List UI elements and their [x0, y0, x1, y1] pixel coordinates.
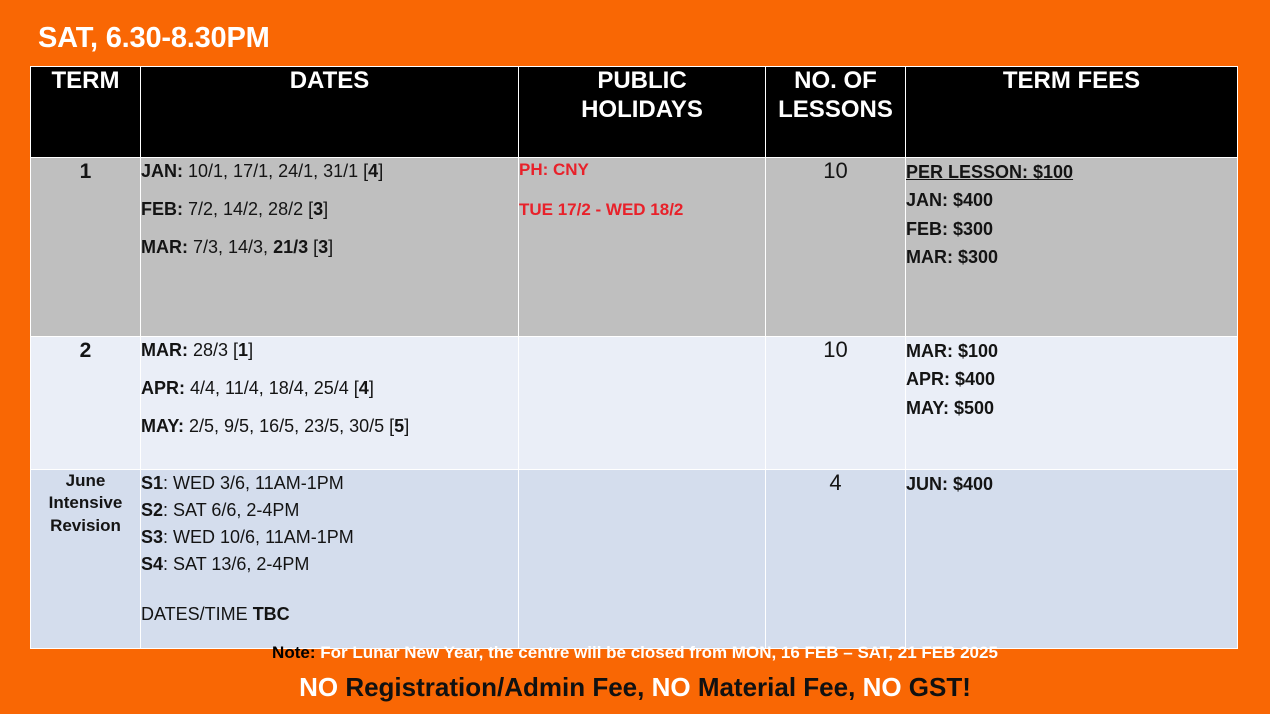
table-body: 1 JAN: 10/1, 17/1, 24/1, 31/1 [4] FEB: 7… — [31, 158, 1238, 649]
fee-line: APR: $400 — [906, 365, 1237, 393]
date-line: MAR: 7/3, 14/3, 21/3 [3] — [141, 234, 518, 260]
promo-no-3: NO — [863, 672, 902, 702]
cell-term-fees: MAR: $100 APR: $400 MAY: $500 — [906, 337, 1238, 470]
cell-term: 1 — [31, 158, 141, 337]
date-line: FEB: 7/2, 14/2, 28/2 [3] — [141, 196, 518, 222]
footer-note: Note: For Lunar New Year, the centre wil… — [0, 643, 1270, 663]
fee-line: JUN: $400 — [906, 470, 1237, 498]
table-header: TERM DATES PUBLIC HOLIDAYS NO. OF LESSON… — [31, 67, 1238, 158]
date-bracket-open: [ — [308, 237, 318, 257]
session-value: : SAT 6/6, 2-4PM — [163, 500, 299, 520]
footer-note-text: For Lunar New Year, the centre will be c… — [316, 643, 998, 662]
column-header-term: TERM — [31, 67, 141, 158]
date-count: 3 — [313, 199, 323, 219]
table-row: 1 JAN: 10/1, 17/1, 24/1, 31/1 [4] FEB: 7… — [31, 158, 1238, 337]
page-title: SAT, 6.30-8.30PM — [38, 22, 270, 55]
date-line: JAN: 10/1, 17/1, 24/1, 31/1 [4] — [141, 158, 518, 184]
promo-part-2: Material Fee, — [691, 672, 863, 702]
public-holiday-line: TUE 17/2 - WED 18/2 — [519, 198, 765, 222]
date-bracket-close: ] — [378, 161, 383, 181]
column-header-dates: DATES — [141, 67, 519, 158]
session-value: : WED 3/6, 11AM-1PM — [163, 473, 344, 493]
date-count: 5 — [394, 416, 404, 436]
session-label: S2 — [141, 500, 163, 520]
cell-no-of-lessons: 10 — [766, 158, 906, 337]
cell-no-of-lessons: 10 — [766, 337, 906, 470]
class-schedule-table: TERM DATES PUBLIC HOLIDAYS NO. OF LESSON… — [30, 66, 1238, 649]
fee-line: JAN: $400 — [906, 186, 1237, 214]
fee-line: MAR: $100 — [906, 337, 1237, 365]
date-line: APR: 4/4, 11/4, 18/4, 25/4 [4] — [141, 375, 518, 401]
date-values: 7/2, 14/2, 28/2 [ — [183, 199, 313, 219]
date-line: S1: WED 3/6, 11AM-1PM — [141, 470, 518, 496]
column-header-term-fees: TERM FEES — [906, 67, 1238, 158]
column-header-no-of-lessons-line2: LESSONS — [766, 96, 905, 125]
column-header-public-holidays-line1: PUBLIC — [519, 67, 765, 96]
date-line: MAR: 28/3 [1] — [141, 337, 518, 363]
session-label: S1 — [141, 473, 163, 493]
cell-public-holidays — [519, 470, 766, 649]
date-values: 2/5, 9/5, 16/5, 23/5, 30/5 [ — [184, 416, 394, 436]
date-month-label: MAY: — [141, 416, 184, 436]
schedule-poster: SAT, 6.30-8.30PM TERM DATES PUBLIC HOLID… — [0, 0, 1270, 714]
footer-promo: NO Registration/Admin Fee, NO Material F… — [0, 672, 1270, 703]
table-header-row: TERM DATES PUBLIC HOLIDAYS NO. OF LESSON… — [31, 67, 1238, 158]
column-header-public-holidays: PUBLIC HOLIDAYS — [519, 67, 766, 158]
fee-line: PER LESSON: $100 — [906, 158, 1237, 186]
cell-dates: MAR: 28/3 [1] APR: 4/4, 11/4, 18/4, 25/4… — [141, 337, 519, 470]
date-values: 10/1, 17/1, 24/1, 31/1 [ — [183, 161, 368, 181]
fee-line: FEB: $300 — [906, 215, 1237, 243]
promo-no-2: NO — [652, 672, 691, 702]
date-bracket-close: ] — [248, 340, 253, 360]
cell-term: June Intensive Revision — [31, 470, 141, 649]
public-holiday-line: PH: CNY — [519, 158, 765, 182]
date-line: S4: SAT 13/6, 2-4PM — [141, 551, 518, 577]
cell-dates: S1: WED 3/6, 11AM-1PM S2: SAT 6/6, 2-4PM… — [141, 470, 519, 649]
date-count: 4 — [368, 161, 378, 181]
cell-term-fees: JUN: $400 — [906, 470, 1238, 649]
date-count: 3 — [318, 237, 328, 257]
date-line: S2: SAT 6/6, 2-4PM — [141, 497, 518, 523]
date-count: 4 — [359, 378, 369, 398]
column-header-public-holidays-line2: HOLIDAYS — [519, 96, 765, 125]
dates-tbc-bold: TBC — [253, 604, 290, 624]
column-header-no-of-lessons: NO. OF LESSONS — [766, 67, 906, 158]
dates-tbc-note: DATES/TIME TBC — [141, 601, 518, 627]
cell-term-fees: PER LESSON: $100 JAN: $400 FEB: $300 MAR… — [906, 158, 1238, 337]
promo-part-1: Registration/Admin Fee, — [338, 672, 652, 702]
date-month-label: MAR: — [141, 340, 188, 360]
date-values: 28/3 [ — [188, 340, 238, 360]
table-row: June Intensive Revision S1: WED 3/6, 11A… — [31, 470, 1238, 649]
cell-public-holidays — [519, 337, 766, 470]
date-bracket-close: ] — [369, 378, 374, 398]
cell-term: 2 — [31, 337, 141, 470]
fee-line: MAR: $300 — [906, 243, 1237, 271]
session-label: S4 — [141, 554, 163, 574]
promo-no-1: NO — [299, 672, 338, 702]
date-month-label: APR: — [141, 378, 185, 398]
date-emphasis: 21/3 — [273, 237, 308, 257]
date-values: 4/4, 11/4, 18/4, 25/4 [ — [185, 378, 359, 398]
date-count: 1 — [238, 340, 248, 360]
date-line: MAY: 2/5, 9/5, 16/5, 23/5, 30/5 [5] — [141, 413, 518, 439]
column-header-no-of-lessons-line1: NO. OF — [766, 67, 905, 96]
date-bracket-close: ] — [328, 237, 333, 257]
cell-dates: JAN: 10/1, 17/1, 24/1, 31/1 [4] FEB: 7/2… — [141, 158, 519, 337]
session-value: : SAT 13/6, 2-4PM — [163, 554, 309, 574]
fee-line: MAY: $500 — [906, 394, 1237, 422]
date-line: S3: WED 10/6, 11AM-1PM — [141, 524, 518, 550]
session-label: S3 — [141, 527, 163, 547]
date-values: 7/3, 14/3, — [188, 237, 273, 257]
date-month-label: FEB: — [141, 199, 183, 219]
date-month-label: JAN: — [141, 161, 183, 181]
table-row: 2 MAR: 28/3 [1] APR: 4/4, 11/4, 18/4, 25… — [31, 337, 1238, 470]
dates-tbc-prefix: DATES/TIME — [141, 604, 253, 624]
date-month-label: MAR: — [141, 237, 188, 257]
promo-part-3: GST! — [902, 672, 971, 702]
cell-no-of-lessons: 4 — [766, 470, 906, 649]
date-bracket-close: ] — [323, 199, 328, 219]
footer-note-label: Note: — [272, 643, 315, 662]
session-value: : WED 10/6, 11AM-1PM — [163, 527, 354, 547]
date-bracket-close: ] — [404, 416, 409, 436]
cell-public-holidays: PH: CNY TUE 17/2 - WED 18/2 — [519, 158, 766, 337]
